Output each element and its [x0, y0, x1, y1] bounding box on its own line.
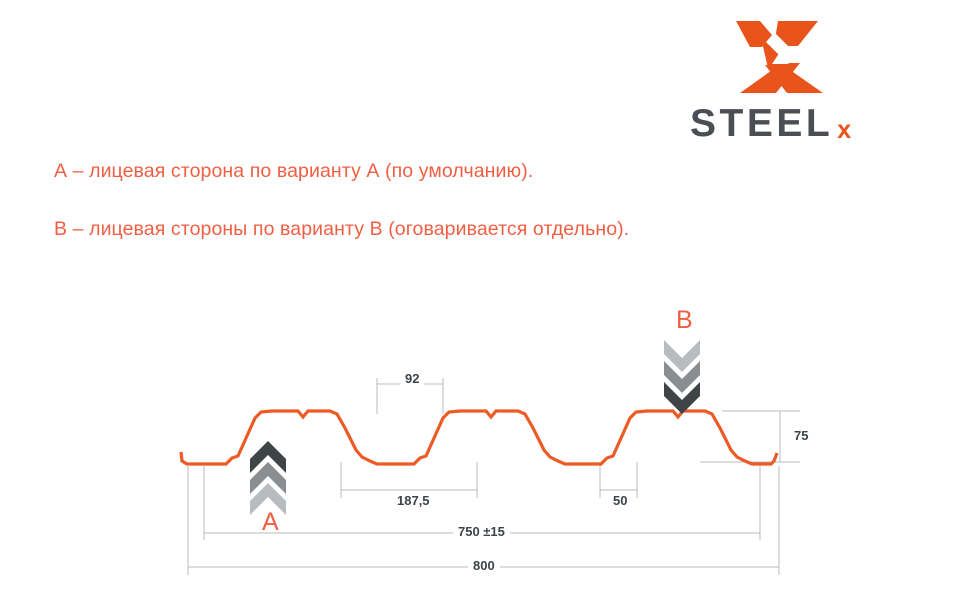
dim-label-effective-width: 750 ±15	[453, 525, 510, 538]
marker-label-a: А	[262, 510, 279, 535]
marker-b-chevrons-icon	[664, 340, 700, 414]
profile-drawing	[0, 0, 970, 597]
marker-a-chevrons-icon	[250, 441, 286, 515]
marker-label-b: В	[676, 308, 693, 333]
dim-label-profile-height: 75	[789, 429, 813, 442]
dim-label-valley-width: 50	[608, 494, 632, 507]
dim-label-rib-top-width: 92	[400, 372, 424, 385]
dim-label-rib-pitch: 187,5	[392, 494, 435, 507]
dim-label-overall-width: 800	[468, 559, 500, 572]
